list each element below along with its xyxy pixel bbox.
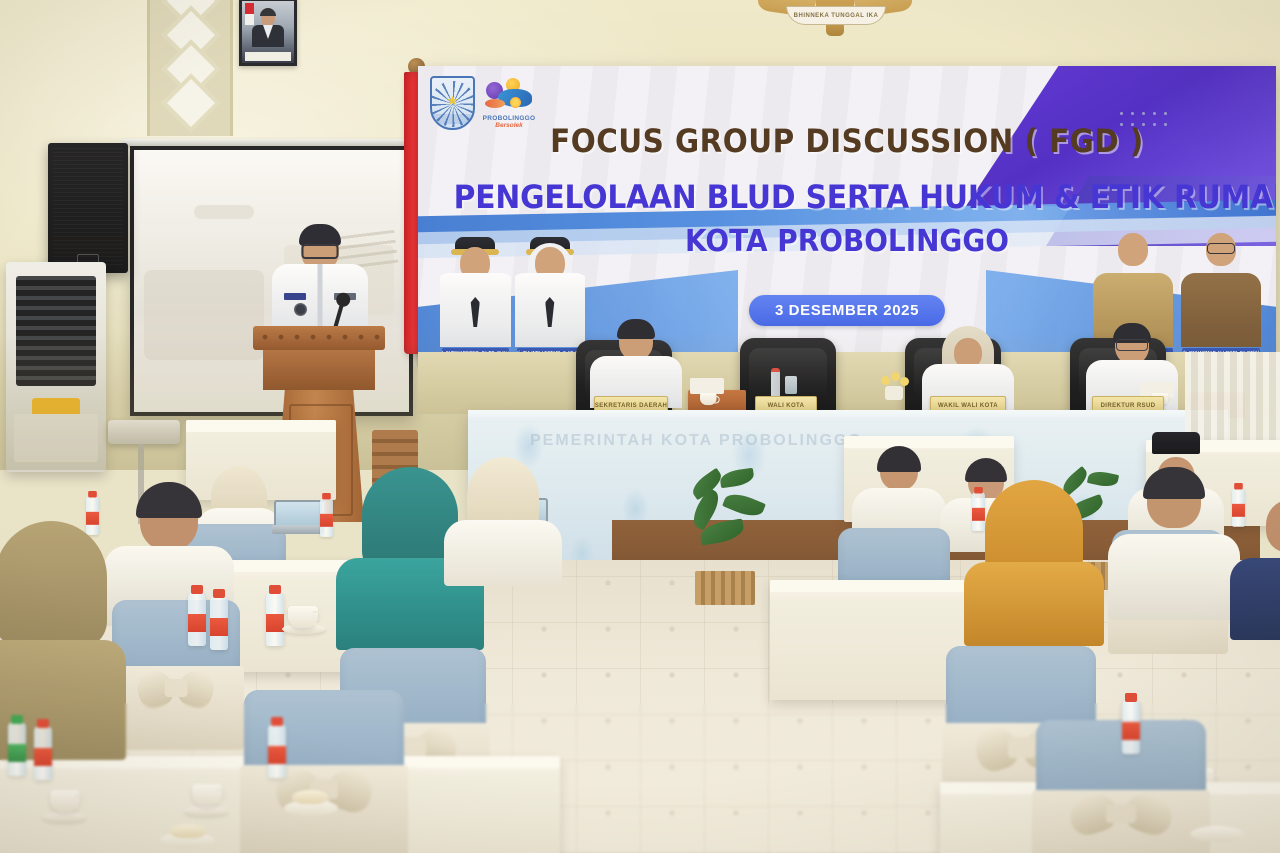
audience-member-mustard bbox=[964, 486, 1104, 646]
meeting-room-photo: BHINNEKA TUNGGAL IKA ★ bbox=[0, 0, 1280, 853]
audience-member bbox=[444, 462, 562, 586]
water-bottle bbox=[188, 592, 206, 646]
water-bottle bbox=[268, 724, 286, 778]
presidential-portrait bbox=[239, 0, 297, 66]
snack bbox=[292, 790, 328, 804]
water-bottle bbox=[8, 722, 26, 776]
water-bottle bbox=[266, 592, 284, 646]
banner-title-line-2: PENGELOLAAN BLUD SERTA HUKUM & ETIK RUMA… bbox=[454, 178, 1241, 216]
potted-plant bbox=[680, 470, 770, 605]
drinking-glass bbox=[785, 376, 797, 394]
event-banner: ★ PROBOLINGGO Bersolek FOCUS GROUP DISCU… bbox=[418, 66, 1276, 359]
garuda-pancasila-emblem: BHINNEKA TUNGGAL IKA bbox=[760, 0, 910, 40]
tissue-box bbox=[690, 378, 724, 394]
presenter-at-podium bbox=[268, 228, 372, 338]
head-table-skirt-text: PEMERINTAH KOTA PROBOLINGGO bbox=[530, 432, 863, 450]
coffee-cup bbox=[700, 393, 717, 405]
water-bottle bbox=[1122, 700, 1140, 754]
pa-speaker-cabinet bbox=[48, 143, 128, 273]
snack bbox=[170, 824, 206, 838]
banner-title-line-1: FOCUS GROUP DISCUSSION ( FGD ) bbox=[452, 122, 1241, 160]
brand-line-1: PROBOLINGGO bbox=[481, 115, 537, 122]
probolinggo-bersolek-logo-icon: PROBOLINGGO Bersolek bbox=[482, 76, 536, 126]
saucer bbox=[184, 806, 228, 816]
banner-date-badge: 3 DESEMBER 2025 bbox=[749, 295, 945, 326]
coffee-cup bbox=[50, 790, 80, 812]
banquet-chair[interactable] bbox=[1036, 720, 1206, 853]
audience-member bbox=[1108, 470, 1240, 620]
coffee-cup bbox=[192, 784, 222, 806]
water-bottle bbox=[34, 726, 52, 780]
saucer bbox=[42, 812, 86, 822]
emblem-motto-text: BHINNEKA TUNGGAL IKA bbox=[794, 13, 879, 19]
projection-screen-rail bbox=[122, 139, 410, 146]
decorative-lattice-panel bbox=[147, 0, 233, 136]
flower-vase bbox=[872, 370, 916, 400]
coffee-cup bbox=[288, 606, 318, 628]
water-bottle bbox=[771, 368, 780, 398]
snack-plate bbox=[1190, 826, 1244, 842]
water-bottle bbox=[210, 596, 228, 650]
laptop[interactable] bbox=[274, 500, 322, 534]
audience-member-navy bbox=[1230, 500, 1280, 640]
water-bottle bbox=[320, 498, 333, 537]
